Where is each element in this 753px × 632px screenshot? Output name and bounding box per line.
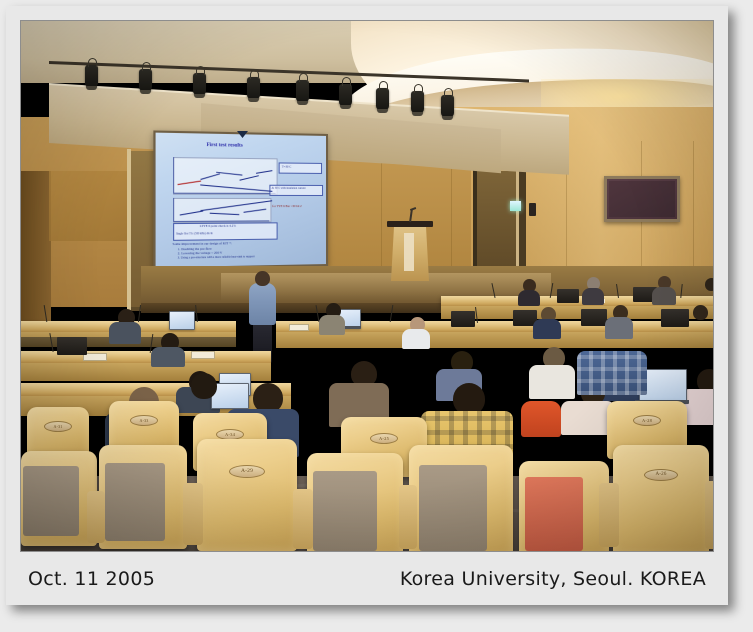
- person-head: [693, 305, 708, 320]
- doorway-right: [476, 171, 516, 281]
- slide-chart-2-yaxis: [173, 197, 174, 220]
- wall-control-panel: [529, 203, 536, 216]
- laptop-back: [57, 337, 87, 355]
- auditorium-photo: First test results: [21, 21, 713, 551]
- photo-frame: First test results: [20, 20, 714, 552]
- slide-chart-1: [173, 157, 278, 195]
- track-light-icon: [376, 88, 389, 110]
- track-light-icon: [139, 69, 152, 91]
- seat-cushion: [105, 463, 165, 541]
- presentation-slide: First test results: [159, 136, 323, 264]
- caption-date: Oct. 11 2005: [28, 568, 155, 590]
- person-torso: [652, 287, 676, 305]
- track-light-icon: [411, 91, 424, 113]
- presenter-head: [255, 271, 270, 286]
- seat-cushion: [313, 471, 377, 551]
- slide-chart-1-yaxis: [173, 157, 174, 193]
- seat-armrest: [599, 483, 619, 547]
- caption-bar: Oct. 11 2005 Korea University, Seoul. KO…: [20, 562, 714, 596]
- person-torso: [109, 322, 141, 344]
- seat-cushion-red: [525, 477, 583, 551]
- slide-title: First test results: [206, 143, 242, 149]
- laptop-back: [557, 289, 579, 303]
- person-torso: [605, 317, 633, 339]
- door-jamb-left: [127, 149, 131, 314]
- desk-nameplate: [289, 324, 309, 331]
- person-head: [705, 278, 713, 291]
- seat-cushion: [23, 466, 79, 536]
- person-head: [191, 373, 217, 399]
- person-torso: [582, 288, 604, 305]
- track-light-icon: [193, 73, 206, 95]
- wall-monitor: [604, 176, 680, 222]
- photo-card: First test results: [6, 6, 728, 605]
- laptop-screen: [169, 311, 195, 330]
- seat-armrest: [87, 491, 105, 543]
- person-torso: [529, 365, 575, 399]
- person-torso-plaid: [577, 351, 647, 395]
- laptop-back: [451, 311, 475, 327]
- exit-sign-icon: [510, 201, 521, 211]
- person-torso: [151, 347, 185, 367]
- track-light-icon: [247, 77, 260, 99]
- laptop-back: [581, 309, 607, 326]
- track-light-icon: [441, 95, 454, 117]
- seat-cushion: [419, 465, 487, 551]
- track-light-icon: [339, 84, 352, 106]
- desk-nameplate: [191, 351, 215, 359]
- presenter-body: [249, 283, 276, 325]
- person-torso: [319, 315, 345, 335]
- seat-armrest: [399, 485, 417, 549]
- caption-location: Korea University, Seoul. KOREA: [400, 568, 706, 590]
- person-torso: [402, 329, 430, 349]
- person-torso: [521, 401, 561, 437]
- wall-left-dark: [21, 171, 51, 321]
- wall-panel-left: [49, 171, 129, 241]
- seat-armrest: [183, 483, 203, 545]
- track-light-icon: [296, 80, 309, 102]
- seat-armrest: [293, 489, 313, 549]
- person-torso: [533, 319, 561, 339]
- track-light-icon: [85, 65, 98, 87]
- laptop-back: [661, 309, 689, 327]
- podium-paper: [404, 233, 414, 271]
- auditorium-seat[interactable]: A-26: [613, 445, 709, 551]
- seat-armrest: [705, 481, 713, 549]
- person-torso: [518, 290, 540, 306]
- auditorium-seat[interactable]: A-29: [197, 439, 297, 551]
- projection-screen: First test results: [153, 130, 328, 269]
